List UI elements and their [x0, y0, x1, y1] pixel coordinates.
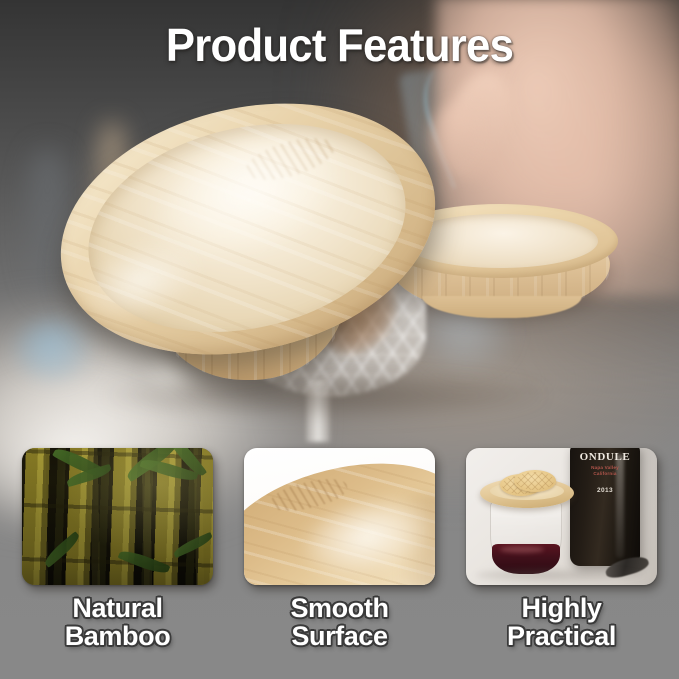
feature-card-natural-bamboo[interactable]: Natural Bamboo	[22, 448, 213, 679]
feature-caption-smooth-surface: Smooth Surface	[290, 595, 388, 650]
bamboo-grove-thumbnail[interactable]	[22, 448, 213, 585]
tilted-bamboo-bowl	[58, 108, 438, 398]
bowl-surface-thumbnail[interactable]	[244, 448, 435, 585]
wine-bottle-vintage: 2013	[574, 488, 636, 495]
wine-bottle-label: ONDULE Napa Valley California 2013	[574, 452, 636, 495]
wine-surface-sheen	[500, 546, 544, 553]
wine-glass-cover-thumbnail[interactable]: ONDULE Napa Valley California 2013	[466, 448, 657, 585]
feature-card-highly-practical[interactable]: ONDULE Napa Valley California 2013 Highl…	[466, 448, 657, 679]
wine-bottle-brand: ONDULE	[574, 452, 636, 463]
bamboo-shading	[22, 448, 213, 585]
product-features-infographic: Product Features Natural Bamboo	[0, 0, 679, 679]
page-title: Product Features	[17, 22, 662, 68]
feature-caption-natural-bamboo: Natural Bamboo	[65, 595, 171, 650]
scene-table-shadow	[476, 567, 646, 583]
feature-card-smooth-surface[interactable]: Smooth Surface	[244, 448, 435, 679]
cracker	[514, 470, 556, 492]
feature-cards-row: Natural Bamboo Smooth Surface ONDULE Nap	[0, 448, 679, 679]
flat-plate-foot	[422, 296, 582, 318]
feature-caption-highly-practical: Highly Practical	[507, 595, 616, 650]
hero-product-scene	[0, 80, 679, 420]
wine-bottle-subtitle: Napa Valley California	[574, 465, 636, 476]
